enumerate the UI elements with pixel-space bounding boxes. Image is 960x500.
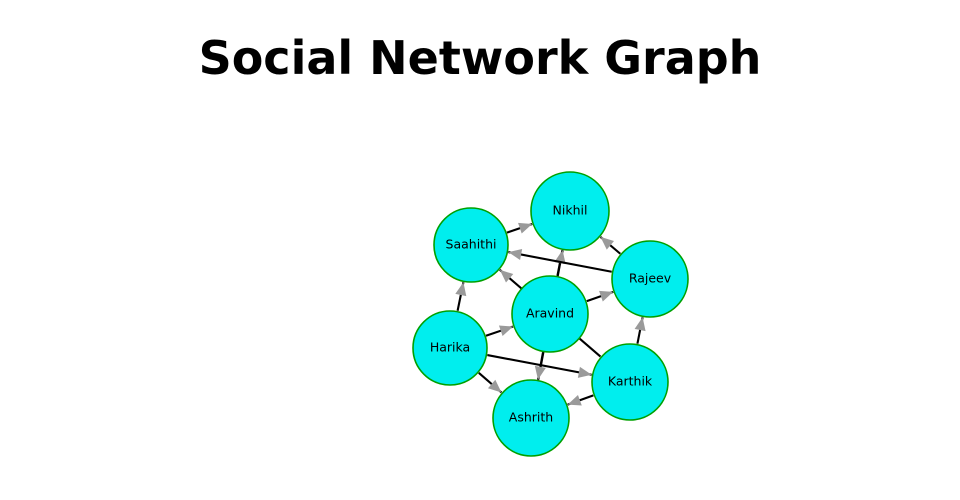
- node-circle-ashrith[interactable]: [493, 380, 569, 456]
- graph-node-saahithi[interactable]: Saahithi: [434, 208, 508, 282]
- node-circle-aravind[interactable]: [512, 276, 588, 352]
- edge-arrowhead-icon: [635, 317, 646, 331]
- edge-arrowhead-icon: [508, 249, 522, 260]
- edge-arrowhead-icon: [518, 223, 532, 234]
- edge-arrowhead-icon: [455, 282, 466, 296]
- node-circle-saahithi[interactable]: [434, 208, 508, 282]
- graph-node-aravind[interactable]: Aravind: [512, 276, 588, 352]
- edge-arrowhead-icon: [578, 367, 592, 378]
- edge-arrowhead-icon: [499, 325, 513, 336]
- node-circle-harika[interactable]: [413, 311, 487, 385]
- node-circle-rajeev[interactable]: [612, 241, 688, 317]
- graph-node-ashrith[interactable]: Ashrith: [493, 380, 569, 456]
- graph-node-nikhil[interactable]: Nikhil: [531, 172, 609, 250]
- graph-node-rajeev[interactable]: Rajeev: [612, 241, 688, 317]
- graph-node-harika[interactable]: Harika: [413, 311, 487, 385]
- node-circle-karthik[interactable]: [592, 344, 668, 420]
- edge-arrowhead-icon: [568, 395, 582, 406]
- edge-arrowhead-icon: [599, 291, 613, 302]
- edge-arrowhead-icon: [535, 366, 546, 380]
- graph-nodes-layer: NikhilSaahithiRajeevAravindHarikaKarthik…: [413, 172, 688, 456]
- graph-node-karthik[interactable]: Karthik: [592, 344, 668, 420]
- social-network-graph: NikhilSaahithiRajeevAravindHarikaKarthik…: [0, 0, 960, 500]
- node-circle-nikhil[interactable]: [531, 172, 609, 250]
